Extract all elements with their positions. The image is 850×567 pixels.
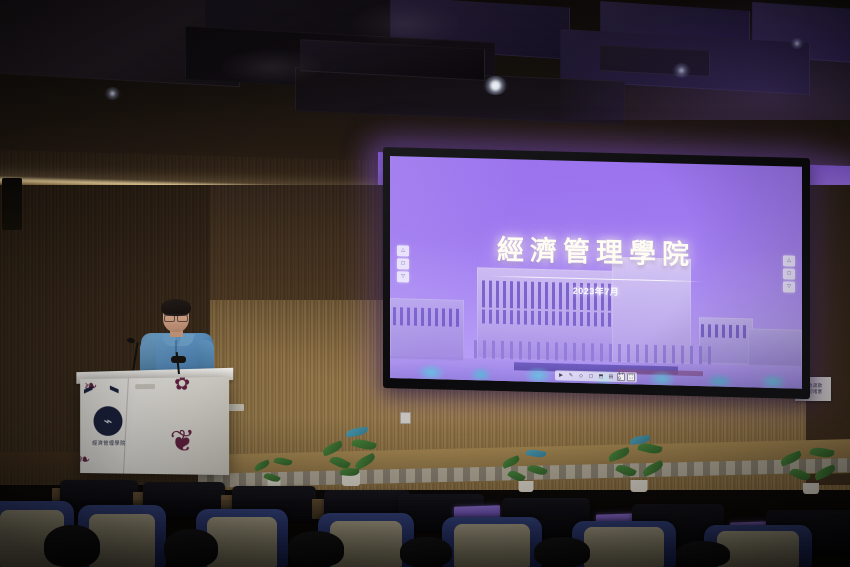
podium-microphone-head (171, 356, 186, 363)
seat-pad (207, 517, 277, 567)
wall-outlet (400, 412, 411, 424)
plant-leaf (525, 448, 546, 459)
ceiling-spotlight (483, 76, 508, 95)
ceiling-spotlight (790, 38, 804, 49)
audience-head (44, 525, 100, 567)
list-icon[interactable]: ▤ (607, 373, 615, 381)
audience-head (676, 541, 730, 567)
audience-head (534, 537, 590, 567)
plant-leaf (809, 446, 834, 460)
auditorium-photo-scene: 紧急疏散 请勿堵塞 經濟管理學院 2023年7月 (0, 0, 850, 567)
pen-icon[interactable]: ✎ (567, 372, 575, 380)
eagle-glyph: ⌁ (104, 414, 113, 429)
layout-icon[interactable]: ⬒ (597, 372, 605, 380)
podium-org-label: 經濟管理學院 (88, 440, 131, 447)
window-rows (482, 309, 611, 327)
plant-leaf (779, 451, 803, 467)
window-rows (701, 324, 750, 339)
plant-leaf (353, 453, 377, 471)
plant-leaf (321, 440, 344, 456)
slide-control-up-icon[interactable]: △ (783, 255, 795, 266)
slide-controls-left[interactable]: △ ◻ ▽ (397, 245, 409, 282)
plant-leaf (273, 456, 292, 468)
plant-leaf (501, 455, 521, 469)
fullscreen-icon[interactable]: ⛶ (627, 373, 635, 381)
window-rows (393, 307, 461, 327)
building-right-b (748, 328, 802, 367)
audience-head (400, 537, 452, 567)
podium: ❧ ✿ ❦ ❧ ⌁ 經濟管理學院 (80, 377, 229, 475)
plant-leaf (351, 437, 377, 452)
audience-head (164, 529, 218, 567)
projection-screen[interactable]: 經濟管理學院 2023年7月 △ ◻ ▽ △ ◻ ▽ ▶ ✎ ◇ ◻ ⬒ ▤ 1… (390, 156, 802, 389)
ceiling-speaker-dome (222, 50, 322, 84)
slide-control-down-icon[interactable]: ▽ (783, 281, 795, 292)
slide-control-mid-icon[interactable]: ◻ (783, 268, 795, 279)
slide-control-mid-icon[interactable]: ◻ (397, 258, 409, 269)
seat-pad (717, 531, 799, 567)
glasses-icon (164, 314, 188, 320)
eagle-emblem-icon: ⌁ (94, 406, 123, 436)
ceiling-spotlight (672, 63, 691, 78)
rect-icon[interactable]: ◻ (587, 372, 595, 380)
slide-control-up-icon[interactable]: △ (397, 245, 409, 256)
plant-leaf (346, 427, 369, 438)
seat-pad (454, 524, 530, 567)
audience-seat[interactable] (442, 517, 542, 567)
building-left (390, 298, 464, 360)
cloud-motif-icon: ❦ (170, 430, 196, 455)
play-icon[interactable]: ▶ (557, 371, 565, 379)
audience-seat-row (0, 490, 850, 567)
slide-toolbar[interactable]: ▶ ✎ ◇ ◻ ⬒ ▤ 1 / 9 ⛶ (555, 370, 637, 382)
emblem-wing-right (110, 386, 119, 394)
ceiling-spotlight (104, 87, 121, 100)
podium-nameplate (135, 384, 155, 389)
podium-seam (123, 378, 129, 473)
ceiling-speaker-dome (352, 2, 460, 46)
shape-icon[interactable]: ◇ (577, 372, 585, 380)
cloud-motif-icon: ❧ (80, 453, 90, 465)
cloud-motif-icon: ✿ (173, 377, 190, 392)
slide-controls-right[interactable]: △ ◻ ▽ (783, 255, 795, 292)
audience-head (288, 531, 344, 567)
wall-speaker-box (2, 178, 22, 230)
seat-pad (584, 527, 663, 567)
plant-leaf (607, 447, 631, 462)
page-indicator: 1 / 9 (617, 373, 625, 381)
slide-control-down-icon[interactable]: ▽ (397, 271, 409, 282)
